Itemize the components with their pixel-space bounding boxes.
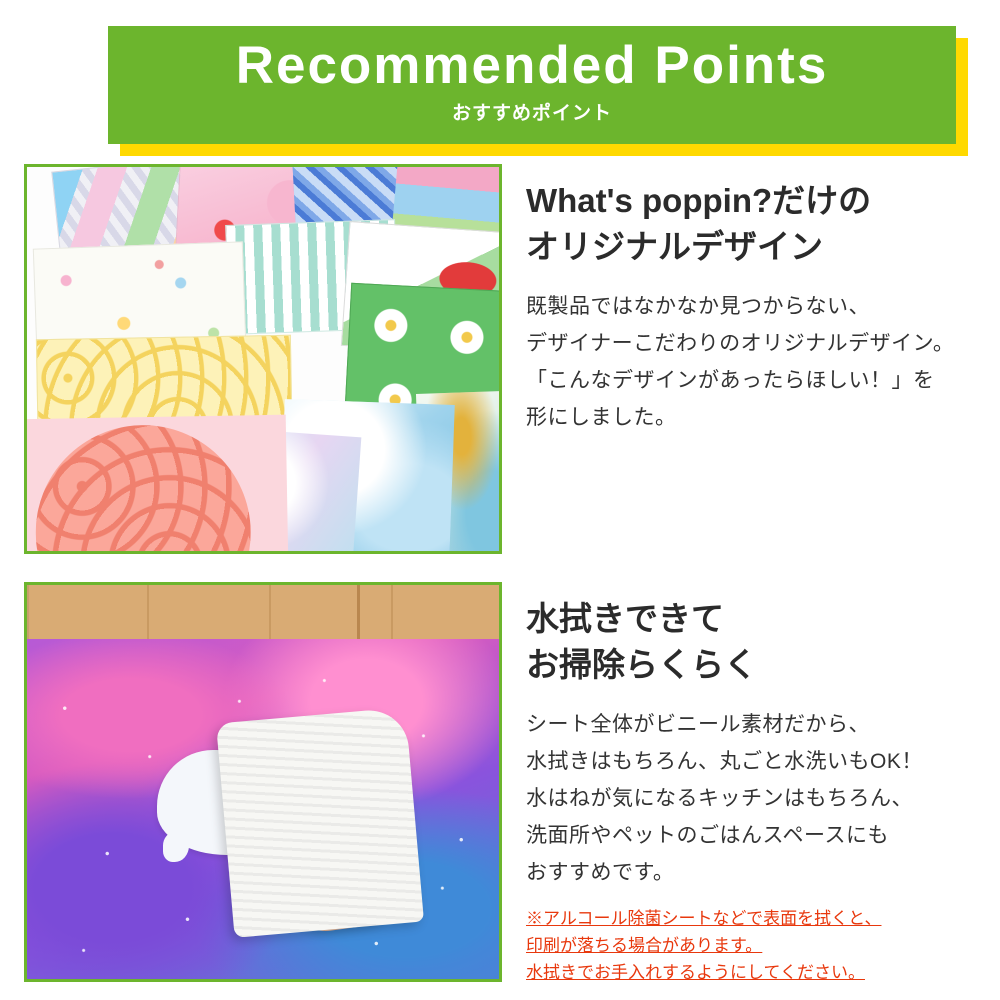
- section-caution-note: ※アルコール除菌シートなどで表面を拭くと、 印刷が落ちる場合があります。 水拭き…: [526, 905, 976, 986]
- section-heading: 水拭きできて お掃除らくらく: [526, 596, 976, 688]
- page-subtitle: おすすめポイント: [108, 98, 956, 125]
- page-title: Recommended Points: [108, 36, 956, 96]
- section-body: シート全体がビニール素材だから、 水拭きはもちろん、丸ごと水洗いもOK！ 水はね…: [526, 706, 976, 891]
- text-original-design: What's poppin?だけの オリジナルデザイン 既製品ではなかなか見つか…: [526, 164, 976, 554]
- text-wipeable: 水拭きできて お掃除らくらく シート全体がビニール素材だから、 水拭きはもちろん…: [526, 582, 976, 986]
- section-heading: What's poppin?だけの オリジナルデザイン: [526, 178, 976, 270]
- section-original-design: What's poppin?だけの オリジナルデザイン 既製品ではなかなか見つか…: [24, 164, 976, 554]
- page-header-banner: Recommended Points おすすめポイント: [24, 22, 976, 142]
- wiping-scene: [27, 585, 499, 979]
- photo-wiping-sheet: [24, 582, 502, 982]
- section-wipeable: 水拭きできて お掃除らくらく シート全体がビニール素材だから、 水拭きはもちろん…: [24, 582, 976, 986]
- section-body: 既製品ではなかなか見つからない、 デザイナーこだわりのオリジナルデザイン。 「こ…: [526, 288, 976, 436]
- photo-original-design: [24, 164, 502, 554]
- wood-floor: [27, 585, 499, 643]
- sample-pink-circle: [24, 415, 288, 554]
- paper-sample-collage: [27, 167, 499, 551]
- white-towel: [216, 707, 424, 938]
